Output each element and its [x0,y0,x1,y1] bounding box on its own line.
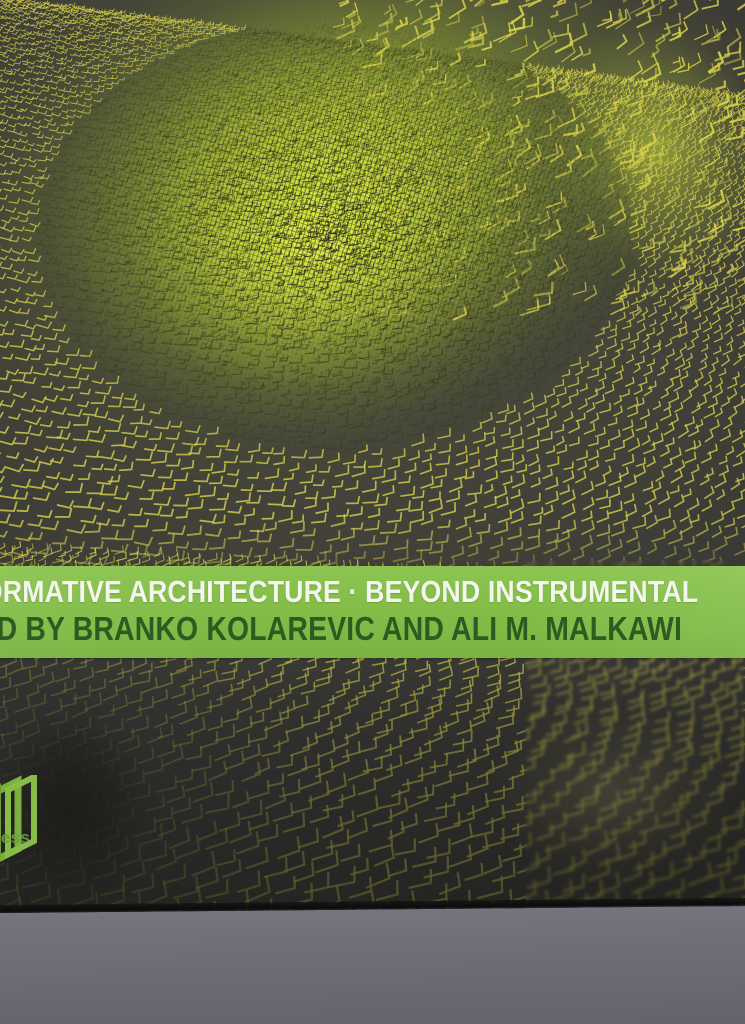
book-cover-photo: ress RFORMATIVE ARCHITECTURE · BEYOND IN… [0,0,745,1024]
cover-left-shadow [0,630,300,914]
book-editors: ITED BY BRANKO KOLAREVIC AND ALI M. MALK… [0,611,606,647]
title-band: RFORMATIVE ARCHITECTURE · BEYOND INSTRUM… [0,566,745,658]
publisher-name: ress [0,828,30,848]
publisher-logo-icon [0,775,70,871]
surface-sheen [0,905,745,1024]
book-title: RFORMATIVE ARCHITECTURE · BEYOND INSTRUM… [0,575,600,609]
book-cover: ress RFORMATIVE ARCHITECTURE · BEYOND IN… [0,0,745,914]
